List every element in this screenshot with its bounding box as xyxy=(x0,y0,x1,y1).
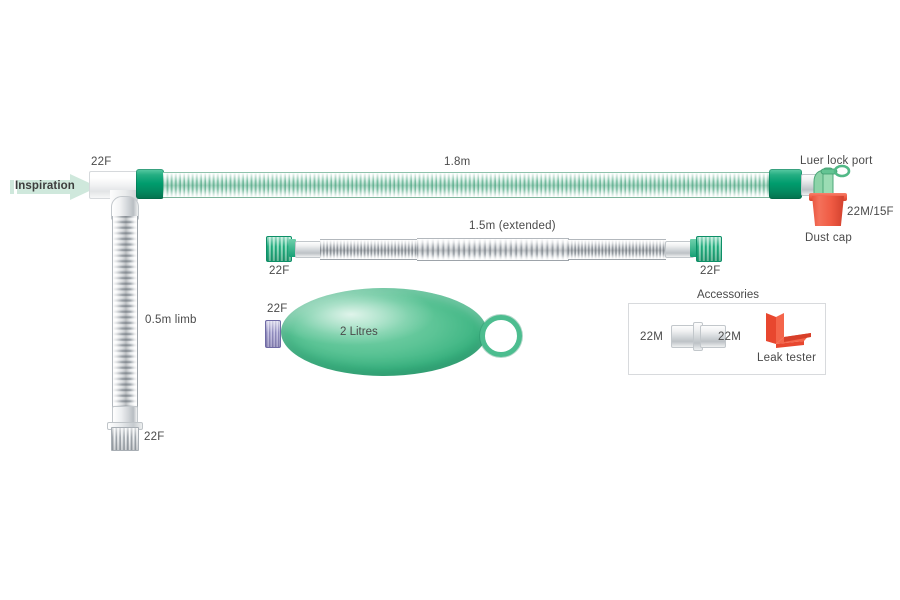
extendable-tube-section-compressed-right xyxy=(568,239,666,260)
breathing-bag xyxy=(281,288,487,376)
extendable-length-label: 1.5m (extended) xyxy=(469,220,556,232)
leak-tester-icon xyxy=(762,311,814,351)
extendable-tube-section-extended xyxy=(417,238,569,261)
limb-end-22f-label: 22F xyxy=(144,431,164,443)
extendable-right-22f-label: 22F xyxy=(700,265,720,277)
extendable-left-sleeve xyxy=(295,241,323,258)
main-inlet-green-connector xyxy=(136,169,164,199)
bag-volume-label: 2 Litres xyxy=(340,326,378,338)
main-inlet-22f-label: 22F xyxy=(91,156,111,168)
dust-cap xyxy=(811,196,845,226)
leak-tester-label: Leak tester xyxy=(757,352,816,364)
bag-neck-connector xyxy=(265,320,281,348)
extendable-tube-section-compressed-left xyxy=(320,239,418,260)
main-tube-length-label: 1.8m xyxy=(444,156,470,168)
main-outlet-green-connector xyxy=(769,169,802,199)
bag-hanging-ring xyxy=(480,315,522,357)
accessory-connector-right-label: 22M xyxy=(718,331,741,343)
limb-corrugated-tube xyxy=(112,216,138,412)
luer-lock-port-label: Luer lock port xyxy=(800,155,872,167)
circuit-diagram: Inspiration 22F 1.8m Luer lock port 22M/… xyxy=(0,0,900,600)
limb-22f-connector xyxy=(111,427,139,451)
bag-connector-label: 22F xyxy=(267,303,287,315)
main-breathing-tube xyxy=(163,172,771,198)
accessory-connector-left-label: 22M xyxy=(640,331,663,343)
patient-connector-label: 22M/15F xyxy=(847,206,894,218)
accessories-title: Accessories xyxy=(697,289,759,301)
dust-cap-label: Dust cap xyxy=(805,232,852,244)
extendable-right-green-connector xyxy=(696,236,722,262)
extendable-left-22f-label: 22F xyxy=(269,265,289,277)
inspiration-flow-indicator: Inspiration xyxy=(8,171,100,203)
inspiration-label: Inspiration xyxy=(15,180,75,192)
limb-length-label: 0.5m limb xyxy=(145,314,197,326)
